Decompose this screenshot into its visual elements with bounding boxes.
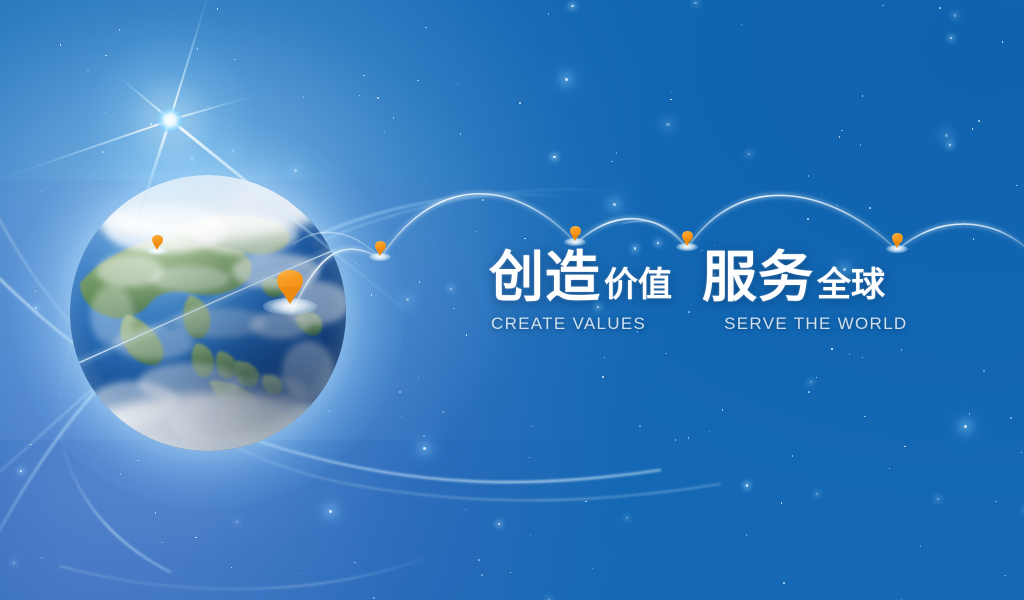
star-dot <box>481 574 483 576</box>
star-dot <box>442 411 444 413</box>
subtitle-line: CREATE VALUES SERVE THE WORLD <box>489 314 909 334</box>
star-dot <box>423 435 425 437</box>
star-dot <box>950 37 952 39</box>
star-dot <box>626 517 628 519</box>
star-dot <box>363 75 365 77</box>
subtitle-right: SERVE THE WORLD <box>724 314 907 334</box>
map-pin-oceania[interactable] <box>263 270 317 327</box>
star-dot <box>901 349 903 351</box>
star-dot <box>548 13 550 15</box>
star-dot <box>862 95 864 97</box>
star-dot <box>983 370 985 372</box>
star-dot <box>862 357 864 359</box>
star-dot <box>122 113 124 115</box>
star-dot <box>616 152 618 154</box>
star-dot <box>746 484 748 486</box>
star-dot <box>670 99 672 101</box>
star-dot <box>41 191 43 193</box>
star-dot <box>531 426 533 428</box>
star-dot <box>524 238 526 240</box>
star-dot <box>20 470 22 472</box>
star-dot <box>1010 417 1012 419</box>
star-dot <box>964 425 967 428</box>
star-dot <box>860 144 862 146</box>
star-dot <box>945 134 948 137</box>
star-dot <box>195 537 197 539</box>
star-dot <box>450 288 452 290</box>
pin-tip <box>893 241 901 248</box>
star-dot <box>675 439 677 441</box>
headline-left-primary: 创造 <box>489 250 601 305</box>
star-dot <box>741 24 743 26</box>
star-dot <box>197 48 199 50</box>
pin-tip <box>153 243 161 250</box>
star-dot <box>831 348 833 350</box>
star-dot <box>602 376 604 378</box>
star-dot <box>234 59 236 61</box>
star-dot <box>418 377 420 379</box>
star-dot <box>1021 452 1023 454</box>
headline-left-secondary: 价值 <box>604 268 672 305</box>
star-dot <box>869 207 871 209</box>
star-dot <box>808 175 810 177</box>
star-dot <box>482 199 484 201</box>
star-dot <box>611 161 613 163</box>
star-dot <box>665 353 667 355</box>
star-dot <box>571 5 573 7</box>
star-dot <box>613 203 616 206</box>
star-dot <box>808 391 810 393</box>
star-dot <box>478 559 480 561</box>
star-dot <box>781 502 783 504</box>
star-dot <box>406 298 409 301</box>
star-dot <box>302 573 304 575</box>
headline-right-secondary: 全球 <box>817 268 885 305</box>
star-dot <box>939 7 941 9</box>
star-dot <box>399 391 401 393</box>
star-dot <box>972 128 974 130</box>
star-dot <box>377 97 379 99</box>
star-dot <box>995 501 997 503</box>
subtitle-left: CREATE VALUES <box>491 314 646 334</box>
star-dot <box>810 381 812 383</box>
star-dot <box>476 231 478 233</box>
star-dot <box>671 92 673 94</box>
headline-line: 创造 价值 服务 全球 <box>489 250 909 305</box>
star-dot <box>841 130 843 132</box>
star-dot <box>498 523 500 525</box>
star-dot <box>207 106 209 108</box>
star-dot <box>466 334 468 336</box>
headline-phrase-left: 创造 价值 <box>489 250 672 305</box>
pin-tip <box>683 239 691 246</box>
star-dot <box>920 545 922 547</box>
star-dot <box>1002 41 1004 43</box>
star-dot <box>565 78 568 81</box>
headline-block: 创造 价值 服务 全球 CREATE VALUES SERVE THE WORL… <box>489 250 909 334</box>
star-dot <box>231 567 233 569</box>
star-dot <box>529 457 531 459</box>
star-dot <box>807 218 809 220</box>
star-dot <box>1004 575 1006 577</box>
star-dot <box>553 156 555 158</box>
star-dot <box>519 102 521 104</box>
star-dot <box>585 501 587 503</box>
star-dot <box>592 568 594 570</box>
star-dot <box>510 572 512 574</box>
star-dot <box>904 446 906 448</box>
star-dot <box>792 455 794 457</box>
star-dot <box>889 468 891 470</box>
flare-spike <box>110 69 171 120</box>
star-dot <box>303 96 305 98</box>
star-dot <box>821 194 823 196</box>
star-dot <box>87 70 89 72</box>
star-dot <box>694 2 696 4</box>
star-dot <box>417 80 419 82</box>
pin-tip <box>571 234 579 241</box>
star-dot <box>465 509 467 511</box>
star-dot <box>839 136 841 138</box>
star-dot <box>419 281 421 283</box>
star-dot <box>837 205 839 207</box>
star-dot <box>688 437 690 439</box>
star-dot <box>1016 185 1018 187</box>
star-dot <box>748 153 750 155</box>
pin-tip <box>279 287 301 304</box>
star-dot <box>666 123 669 126</box>
star-dot <box>30 444 32 446</box>
star-dot <box>373 597 375 599</box>
star-dot <box>105 55 107 57</box>
star-dot <box>530 535 532 537</box>
star-dot <box>155 512 157 514</box>
map-pin-route-1[interactable] <box>369 241 391 270</box>
star-dot <box>41 557 43 559</box>
star-dot <box>864 416 866 418</box>
star-dot <box>119 29 121 31</box>
star-dot <box>354 562 356 564</box>
star-dot <box>217 8 219 10</box>
star-dot <box>423 447 426 450</box>
star-dot <box>949 144 951 146</box>
star-dot <box>978 120 980 122</box>
star-dot <box>60 44 62 46</box>
star-dot <box>816 493 818 495</box>
star-dot <box>882 5 884 7</box>
star-dot <box>161 542 163 544</box>
star-dot <box>384 132 386 134</box>
star-dot <box>973 238 975 240</box>
headline-phrase-right: 服务 全球 <box>702 250 885 305</box>
star-dot <box>783 582 785 584</box>
star-dot <box>937 498 939 500</box>
star-dot <box>236 521 238 523</box>
map-pin-asia[interactable] <box>146 235 168 264</box>
star-dot <box>453 308 455 310</box>
star-dot <box>393 117 395 119</box>
star-dot <box>104 112 106 114</box>
star-dot <box>425 27 427 29</box>
star-dot <box>969 413 971 415</box>
star-dot <box>816 377 818 379</box>
headline-right-primary: 服务 <box>702 250 814 305</box>
star-dot <box>13 562 15 564</box>
star-dot <box>359 95 361 97</box>
star-dot <box>849 353 851 355</box>
pin-tip <box>376 249 384 256</box>
flare-spike <box>169 0 215 120</box>
star-dot <box>709 431 711 433</box>
star-dot <box>746 534 748 536</box>
star-dot <box>460 133 462 135</box>
star-dot <box>954 14 956 16</box>
star-dot <box>457 83 459 85</box>
star-dot <box>604 357 606 359</box>
star-dot <box>639 425 641 427</box>
star-dot <box>657 242 659 244</box>
banner-canvas: 创造 价值 服务 全球 CREATE VALUES SERVE THE WORL… <box>0 0 1024 600</box>
star-dot <box>329 510 332 513</box>
star-dot <box>722 409 724 411</box>
star-dot <box>401 416 403 418</box>
